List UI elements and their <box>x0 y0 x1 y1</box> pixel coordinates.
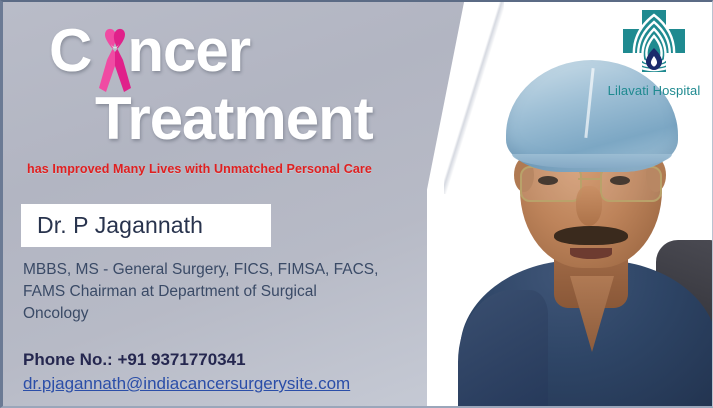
glasses-bridge <box>578 178 600 180</box>
teal-cross-peacock-feather-logo-icon <box>615 6 693 82</box>
cap-seam <box>584 68 594 138</box>
doctor-name: Dr. P Jagannath <box>37 212 203 239</box>
credentials-line-2: FAMS Chairman at Department of Surgical <box>23 281 443 303</box>
headline-line-treatment: Treatment <box>95 88 473 149</box>
cap-band <box>512 154 672 168</box>
mouth <box>570 248 612 259</box>
pink-awareness-ribbon-icon <box>93 26 137 98</box>
headline: Cncer Treatment <box>3 20 473 149</box>
tagline: has Improved Many Lives with Unmatched P… <box>27 162 372 176</box>
doctor-photo <box>458 54 713 408</box>
hospital-logo: Lilavati Hospital <box>602 6 706 106</box>
headline-ncer: ncer <box>127 17 250 84</box>
email-link[interactable]: dr.pjagannath@indiacancersurgerysite.com <box>23 374 350 394</box>
headline-c: C <box>49 17 91 84</box>
phone-number: Phone No.: +91 9371770341 <box>23 350 246 370</box>
headline-line-cancer: Cncer <box>49 20 473 86</box>
mustache <box>554 226 628 245</box>
doctor-name-box: Dr. P Jagannath <box>21 204 271 247</box>
nose <box>576 186 602 226</box>
doctor-credentials: MBBS, MS - General Surgery, FICS, FIMSA,… <box>23 259 443 325</box>
credentials-line-3: Oncology <box>23 303 443 325</box>
scrubs-shoulder <box>458 290 548 408</box>
cancer-treatment-banner: Lilavati Hospital Cncer Treatment has Im… <box>0 0 713 408</box>
credentials-line-1: MBBS, MS - General Surgery, FICS, FIMSA,… <box>23 259 443 281</box>
hospital-name: Lilavati Hospital <box>602 83 706 98</box>
